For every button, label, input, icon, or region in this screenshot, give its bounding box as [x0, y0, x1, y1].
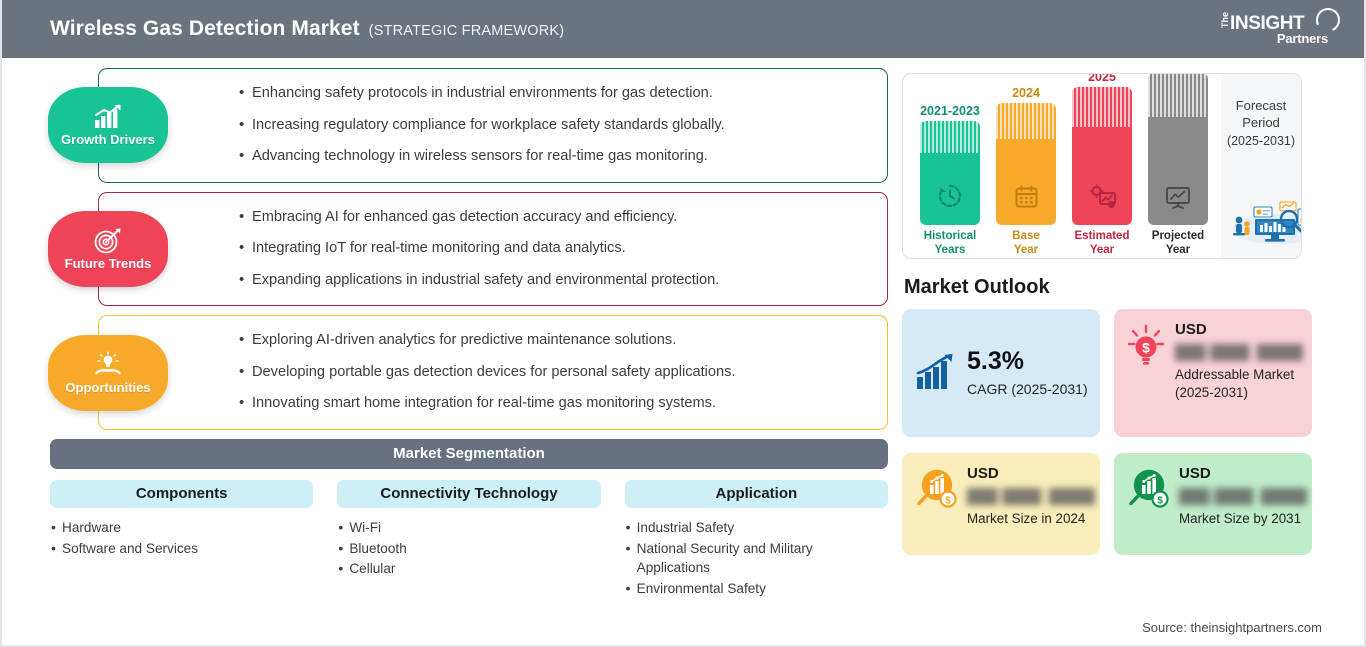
- stripe-pattern: [996, 103, 1056, 139]
- bar-chart-growth-icon: [914, 352, 958, 397]
- stripe-pattern: [1072, 87, 1132, 127]
- gear-chart-icon: [1089, 184, 1116, 214]
- list-item: Embracing AI for enhanced gas detection …: [239, 208, 869, 228]
- card-body: USD lorem ipsum Addressable Market (2025…: [1175, 321, 1307, 402]
- bullet-list-growth-drivers: Enhancing safety protocols in industrial…: [239, 84, 869, 167]
- blurred-value: lorem ipsum: [967, 488, 1099, 505]
- blurred-value: lorem ipsum: [1175, 344, 1307, 361]
- timeline-year: 2025: [1088, 73, 1116, 84]
- stripe-pattern: [920, 121, 980, 153]
- list-item: Exploring AI-driven analytics for predic…: [239, 331, 869, 351]
- timeline-bar-estimated: 2025: [1069, 73, 1135, 258]
- list-item: Innovating smart home integration for re…: [239, 394, 869, 414]
- right-column: 2021-2023: [902, 68, 1364, 647]
- magnifier-bar-chart-dollar-icon: $: [914, 467, 958, 516]
- card-caption: Market Size in 2024: [967, 510, 1099, 528]
- bullet-list-future-trends: Embracing AI for enhanced gas detection …: [239, 208, 869, 291]
- timeline-bar-historical: 2021-2023: [917, 104, 983, 258]
- timeline-panel: 2021-2023: [902, 73, 1302, 259]
- target-dartboard-icon: [91, 227, 125, 255]
- segmentation-head-components: Components: [50, 480, 313, 508]
- svg-text:$: $: [945, 496, 951, 507]
- calendar-icon: [1014, 184, 1039, 214]
- timeline-caption-line2: Year: [1166, 244, 1190, 256]
- segmentation-column-connectivity: Connectivity Technology Wi-Fi Bluetooth …: [337, 480, 600, 600]
- infographic-page: Wireless Gas Detection Market (STRATEGIC…: [0, 0, 1366, 647]
- badge-label: Opportunities: [65, 380, 150, 395]
- insight-row-opportunities: Exploring AI-driven analytics for predic…: [48, 315, 888, 430]
- timeline-caption: Historical Years: [924, 230, 976, 258]
- list-item: Software and Services: [50, 539, 313, 559]
- card-caption: Addressable Market (2025-2031): [1175, 366, 1307, 402]
- timeline-bar-base: 2024: [993, 86, 1059, 258]
- card-body: USD lorem ipsum Market Size in 2024: [967, 465, 1099, 528]
- card-currency-label: USD: [1175, 321, 1307, 338]
- timeline-caption-line2: Year: [1090, 244, 1114, 256]
- card-body: USD lorem ipsum Market Size by 2031: [1179, 465, 1311, 528]
- svg-text:$: $: [1157, 496, 1163, 507]
- card-caption: Market Size by 2031: [1179, 510, 1311, 528]
- badge-label: Growth Drivers: [61, 132, 155, 147]
- timeline-bar-fill: [1072, 87, 1132, 225]
- presentation-chart-icon: [1165, 185, 1191, 214]
- timeline-caption: Estimated Year: [1075, 230, 1130, 258]
- timeline-bar-fill: [996, 103, 1056, 225]
- list-item: Industrial Safety: [625, 518, 888, 538]
- source-attribution: Source: theinsightpartners.com: [1142, 620, 1322, 635]
- list-item: Cellular: [337, 559, 600, 579]
- list-item: Increasing regulatory compliance for wor…: [239, 116, 869, 136]
- timeline-bar-fill: [1148, 73, 1208, 225]
- list-item: Enhancing safety protocols in industrial…: [239, 84, 869, 104]
- timeline-year: 2024: [1012, 86, 1040, 100]
- timeline-bars: 2021-2023: [903, 74, 1221, 258]
- timeline-caption-line1: Estimated: [1075, 230, 1130, 242]
- list-item: Wi-Fi: [337, 518, 600, 538]
- forecast-line1: Forecast: [1236, 98, 1287, 115]
- segmentation-list-connectivity: Wi-Fi Bluetooth Cellular: [337, 518, 600, 579]
- svg-text:$: $: [1142, 340, 1150, 356]
- badge-opportunities[interactable]: Opportunities: [48, 335, 168, 411]
- clock-history-icon: [937, 183, 963, 214]
- timeline-caption: Base Year: [1012, 230, 1040, 258]
- stripe-pattern: [1148, 73, 1208, 117]
- logo-the-text: The: [1220, 12, 1230, 28]
- segmentation-column-application: Application Industrial Safety National S…: [625, 480, 888, 600]
- list-item: Environmental Safety: [625, 579, 888, 599]
- timeline-caption: Projected Year: [1152, 230, 1204, 258]
- card-market-size-2024: $ USD lorem ipsum Market Size in 2024: [902, 453, 1100, 555]
- segmentation-columns: Components Hardware Software and Service…: [50, 480, 888, 600]
- segmentation-list-application: Industrial Safety National Security and …: [625, 518, 888, 599]
- hand-lightbulb-icon: [91, 351, 125, 379]
- list-item: National Security and Military Applicati…: [625, 539, 888, 578]
- forecast-period-panel: Forecast Period (2025-2031): [1221, 74, 1301, 258]
- insight-box-future-trends: Embracing AI for enhanced gas detection …: [98, 192, 888, 307]
- card-body: 5.3% CAGR (2025-2031): [967, 349, 1088, 397]
- badge-future-trends[interactable]: Future Trends: [48, 211, 168, 287]
- list-item: Expanding applications in industrial saf…: [239, 271, 869, 291]
- timeline-caption-line1: Base: [1012, 230, 1040, 242]
- insight-box-growth-drivers: Enhancing safety protocols in industrial…: [98, 68, 888, 183]
- badge-growth-drivers[interactable]: Growth Drivers: [48, 87, 168, 163]
- title-group: Wireless Gas Detection Market (STRATEGIC…: [50, 17, 564, 41]
- timeline-year: 2021-2023: [920, 104, 980, 118]
- badge-label: Future Trends: [65, 256, 152, 271]
- timeline-bar-projected: 2031: [1145, 73, 1211, 258]
- segmentation-list-components: Hardware Software and Services: [50, 518, 313, 558]
- card-currency-label: USD: [967, 465, 1099, 482]
- growth-chart-arrow-icon: [91, 103, 125, 131]
- business-analytics-illustration: [1225, 189, 1302, 250]
- timeline-caption-line1: Historical: [924, 230, 976, 242]
- market-segmentation-header: Market Segmentation: [50, 439, 888, 469]
- card-market-size-2031: $ USD lorem ipsum Market Size by 2031: [1114, 453, 1312, 555]
- bullet-list-opportunities: Exploring AI-driven analytics for predic…: [239, 331, 869, 414]
- market-outlook-title: Market Outlook: [904, 276, 1322, 299]
- insight-row-growth-drivers: Enhancing safety protocols in industrial…: [48, 68, 888, 183]
- forecast-line2: Period: [1242, 115, 1280, 132]
- insight-partners-logo: The INSIGHT Partners: [1218, 8, 1340, 50]
- left-column: Enhancing safety protocols in industrial…: [2, 68, 902, 647]
- page-subtitle: (STRATEGIC FRAMEWORK): [369, 23, 565, 39]
- list-item: Integrating IoT for real-time monitoring…: [239, 239, 869, 259]
- segmentation-head-application: Application: [625, 480, 888, 508]
- segmentation-head-label: Application: [715, 485, 797, 502]
- logo-partners-text: Partners: [1277, 31, 1328, 46]
- page-header: Wireless Gas Detection Market (STRATEGIC…: [2, 0, 1364, 58]
- insight-box-opportunities: Exploring AI-driven analytics for predic…: [98, 315, 888, 430]
- segmentation-head-label: Connectivity Technology: [380, 485, 557, 502]
- timeline-caption-line2: Year: [1014, 244, 1038, 256]
- forecast-line3: (2025-2031): [1227, 134, 1295, 148]
- timeline-bar-fill: [920, 121, 980, 225]
- market-segmentation-title: Market Segmentation: [393, 445, 545, 462]
- list-item: Developing portable gas detection device…: [239, 363, 869, 383]
- segmentation-head-connectivity: Connectivity Technology: [337, 480, 600, 508]
- page-title: Wireless Gas Detection Market: [50, 17, 360, 41]
- timeline-caption-line1: Projected: [1152, 230, 1204, 242]
- segmentation-head-label: Components: [136, 485, 228, 502]
- segmentation-column-components: Components Hardware Software and Service…: [50, 480, 313, 600]
- list-item: Hardware: [50, 518, 313, 538]
- card-addressable-market: $ USD lorem ipsum Addressable Market (20…: [1114, 309, 1312, 437]
- cagr-value: 5.3%: [967, 349, 1088, 374]
- blurred-value: lorem ipsum: [1179, 488, 1311, 505]
- list-item: Advancing technology in wireless sensors…: [239, 147, 869, 167]
- cagr-caption: CAGR (2025-2031): [967, 381, 1088, 397]
- outlook-cards: 5.3% CAGR (2025-2031) $: [902, 309, 1312, 555]
- list-item: Bluetooth: [337, 539, 600, 559]
- insight-row-future-trends: Embracing AI for enhanced gas detection …: [48, 192, 888, 307]
- card-cagr: 5.3% CAGR (2025-2031): [902, 309, 1100, 437]
- magnifier-bar-chart-dollar-icon: $: [1126, 467, 1170, 516]
- card-currency-label: USD: [1179, 465, 1311, 482]
- page-body: Enhancing safety protocols in industrial…: [2, 58, 1364, 647]
- timeline-caption-line2: Years: [935, 244, 966, 256]
- lightbulb-dollar-icon: $: [1126, 323, 1166, 374]
